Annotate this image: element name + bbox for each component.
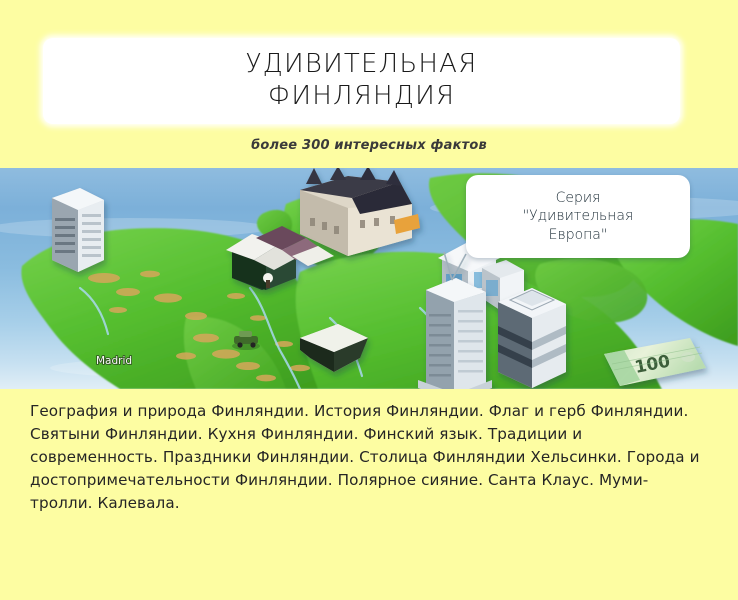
body-paragraph: География и природа Финляндии. История Ф… (30, 400, 710, 515)
series-line-2: "Удивительная (523, 207, 634, 226)
prop-skyscraper-striped (498, 288, 566, 388)
title-card: УДИВИТЕЛЬНАЯ ФИНЛЯНДИЯ (43, 38, 680, 124)
page-title-line-2: ФИНЛЯНДИЯ (268, 81, 455, 113)
series-line-3: Европа" (549, 226, 608, 245)
prop-office-tower-twin (52, 188, 104, 272)
presentation-slide: УДИВИТЕЛЬНАЯ ФИНЛЯНДИЯ более 300 интерес… (0, 0, 738, 600)
map-label-madrid: Madrid (96, 355, 132, 367)
series-line-1: Серия (556, 189, 601, 208)
subtitle: более 300 интересных фактов (0, 138, 738, 153)
page-title-line-1: УДИВИТЕЛЬНАЯ (246, 49, 478, 81)
series-callout-card: Серия "Удивительная Европа" (466, 175, 690, 258)
